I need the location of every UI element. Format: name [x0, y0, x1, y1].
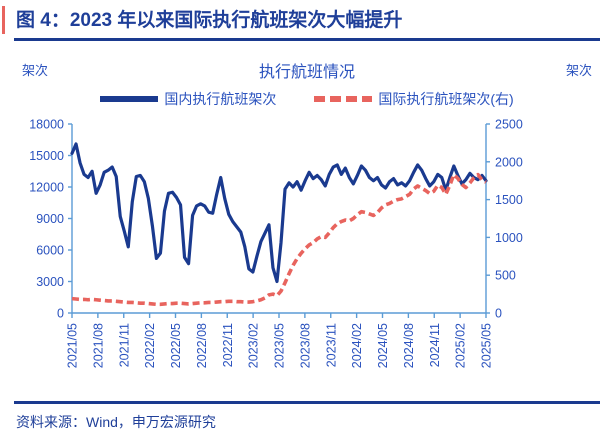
svg-text:2024/02: 2024/02 — [350, 323, 364, 368]
svg-text:6000: 6000 — [36, 244, 64, 258]
header-accent-bar — [2, 6, 5, 34]
svg-text:2024/05: 2024/05 — [376, 323, 390, 368]
data-series-group — [72, 144, 486, 304]
page-title: 图 4：2023 年以来国际执行航班架次大幅提升 — [16, 5, 402, 32]
svg-text:2023/08: 2023/08 — [298, 323, 312, 368]
svg-text:2022/08: 2022/08 — [195, 323, 209, 368]
header-divider — [14, 38, 600, 41]
svg-text:1500: 1500 — [495, 193, 523, 207]
left-axis-ticks: 0300060009000120001500018000 — [29, 118, 64, 321]
svg-text:2025/02: 2025/02 — [454, 323, 468, 368]
svg-text:0: 0 — [57, 307, 64, 321]
svg-text:12000: 12000 — [29, 181, 64, 195]
svg-text:2021/05: 2021/05 — [66, 323, 80, 368]
footer-divider — [14, 401, 600, 404]
svg-text:3000: 3000 — [36, 275, 64, 289]
svg-text:2500: 2500 — [495, 118, 523, 132]
series-line-domestic — [72, 144, 486, 282]
svg-text:18000: 18000 — [29, 118, 64, 132]
svg-text:2021/11: 2021/11 — [117, 323, 131, 367]
figure-header: 图 4：2023 年以来国际执行航班架次大幅提升 — [0, 0, 614, 42]
right-axis-ticks: 05001000150020002500 — [495, 118, 523, 321]
svg-text:2000: 2000 — [495, 155, 523, 169]
svg-text:2024/11: 2024/11 — [428, 323, 442, 367]
svg-text:2025/05: 2025/05 — [480, 323, 494, 368]
svg-text:2023/05: 2023/05 — [273, 323, 287, 368]
svg-text:2021/08: 2021/08 — [91, 323, 105, 368]
svg-text:9000: 9000 — [36, 212, 64, 226]
svg-text:0: 0 — [495, 307, 502, 321]
svg-text:2024/08: 2024/08 — [402, 323, 416, 368]
svg-text:500: 500 — [495, 269, 516, 283]
svg-text:2023/11: 2023/11 — [324, 323, 338, 367]
x-axis-ticks: 2021/052021/082021/112022/022022/052022/… — [66, 323, 494, 368]
source-note: 资料来源：Wind，申万宏源研究 — [16, 412, 216, 432]
svg-text:2022/11: 2022/11 — [221, 323, 235, 367]
chart-container: 执行航班情况 架次 架次 国内执行航班架次 国际执行航班架次(右) 030006… — [0, 42, 614, 397]
svg-text:2022/02: 2022/02 — [143, 323, 157, 368]
svg-text:2022/05: 2022/05 — [169, 323, 183, 368]
chart-plot-area: 0300060009000120001500018000 05001000150… — [0, 42, 614, 397]
svg-text:1000: 1000 — [495, 231, 523, 245]
svg-text:15000: 15000 — [29, 149, 64, 163]
svg-text:2023/02: 2023/02 — [247, 323, 261, 368]
